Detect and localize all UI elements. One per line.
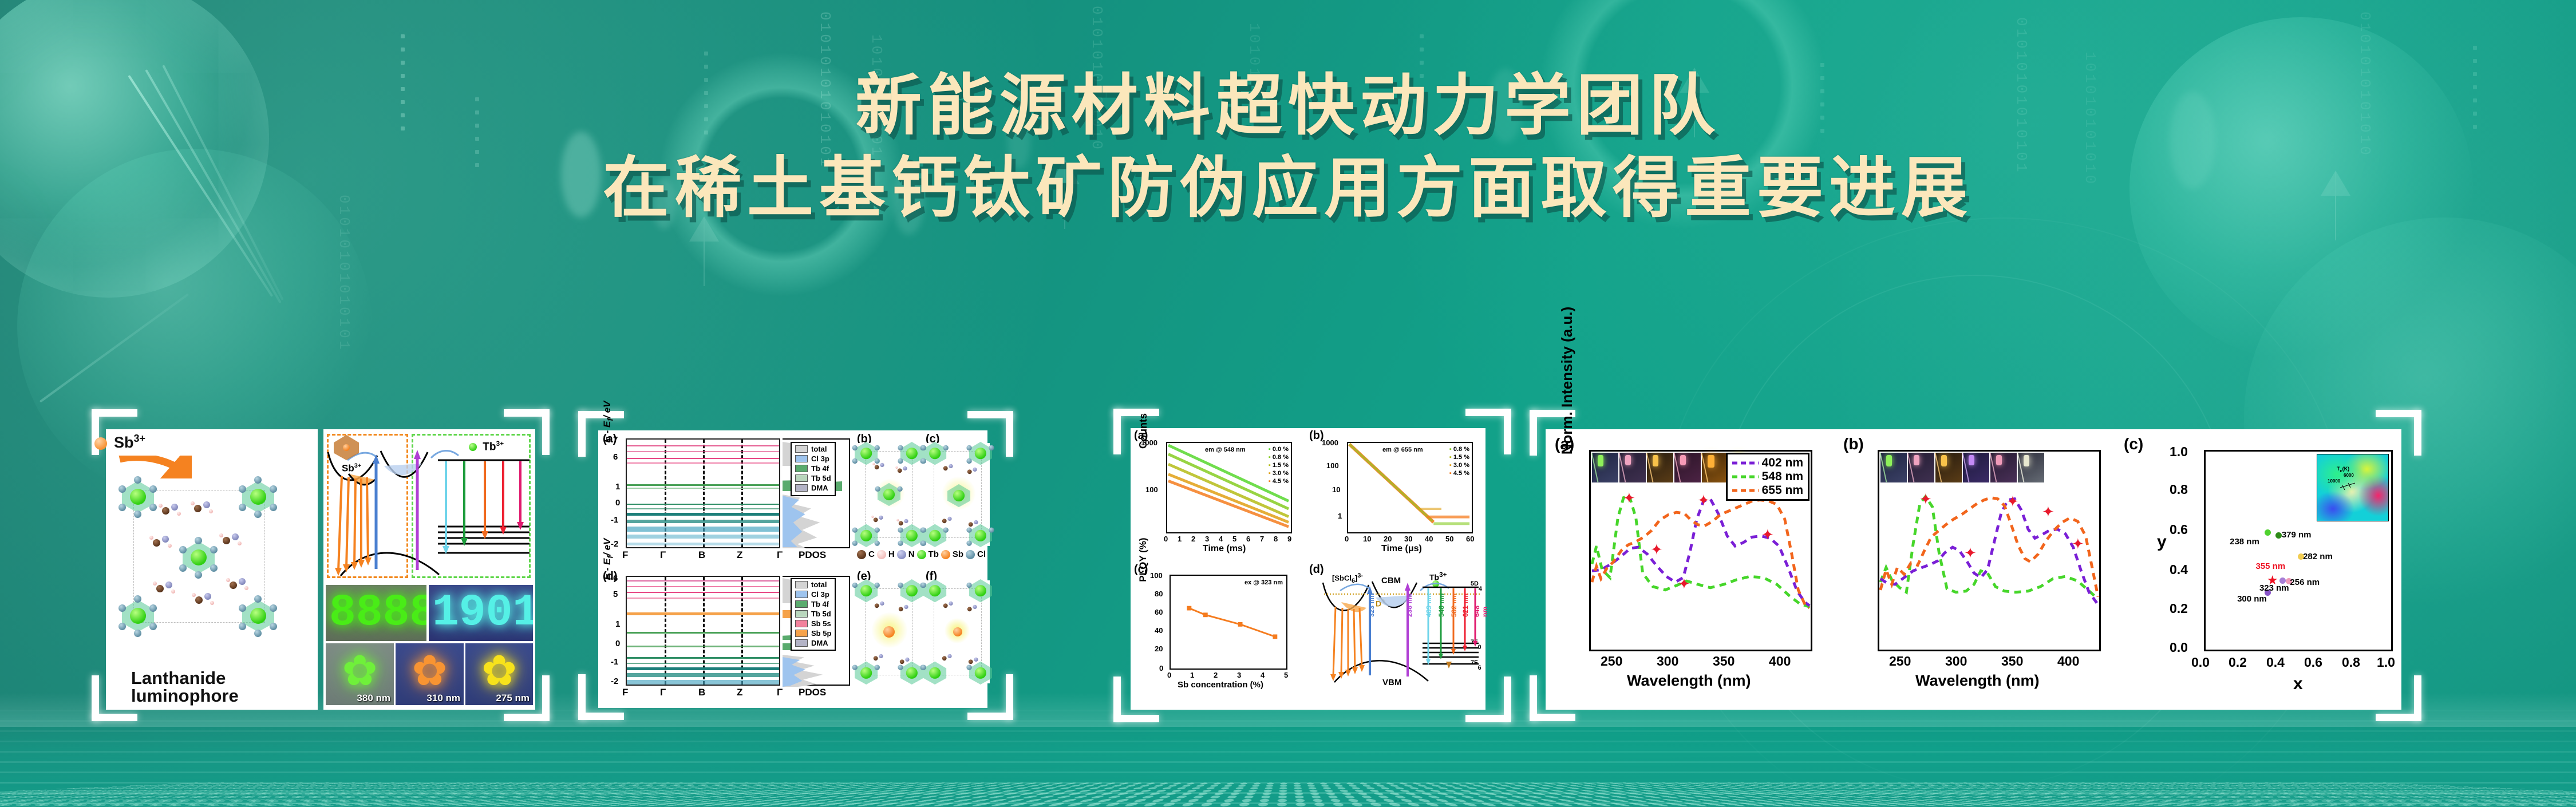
pdos-plot-d: total Cl 3p Tb 4f Tb 5d Sb 5s Sb 5p DMA xyxy=(783,576,850,686)
cie-plot: Tc(K) 6000 10000 ★ 238 nm 379 nm 282 nm … xyxy=(2204,450,2393,651)
cie-point-238 xyxy=(2265,529,2271,536)
tb-label: Tb3+ xyxy=(469,440,504,453)
ytick-4c-02: 0.2 xyxy=(2170,601,2188,616)
crystal-cell-b xyxy=(857,443,921,546)
panel-label-4c: (c) xyxy=(2124,435,2143,453)
xtick-4c-04: 0.4 xyxy=(2266,655,2285,670)
toc-dopant-label: Sb3+ xyxy=(114,433,145,452)
xtick-3b-60: 60 xyxy=(1466,535,1474,543)
cie-point-379 xyxy=(2275,532,2282,539)
annotation-em548: em @ 548 nm xyxy=(1205,446,1246,453)
ytick-3a-100: 100 xyxy=(1145,485,1158,494)
xtick-3a-2: 2 xyxy=(1191,535,1195,543)
xtick-3c-3: 3 xyxy=(1237,671,1241,679)
xtick-3b-0: 0 xyxy=(1345,535,1349,543)
curved-arrow-icon xyxy=(117,456,192,478)
xtick-4a-400: 400 xyxy=(1769,654,1791,669)
crystal-unit-cell xyxy=(121,480,275,633)
ytick-3c-20: 20 xyxy=(1155,644,1163,653)
transition-489: 489 nm xyxy=(1425,594,1433,617)
excitation-plot-a: ✦ ✦ ✦ ✦ ✦ 402 nm 548 nm 655 nm xyxy=(1589,450,1812,651)
xtick-4c-08: 0.8 xyxy=(2342,655,2360,670)
cie-label-355: 355 nm xyxy=(2255,561,2285,571)
perspective-floor xyxy=(0,710,2576,807)
pdos-label-d: PDOS xyxy=(799,687,826,698)
banner-title: 新能源材料超快动力学团队 在稀土基钙钛矿防伪应用方面取得重要进展 xyxy=(0,69,2576,226)
energy-transfer-scheme: Sb3+ Tb3+ xyxy=(326,432,533,581)
xtick-4b-300: 300 xyxy=(1945,654,1967,669)
transition-582: 582 nm xyxy=(1450,594,1458,617)
xtick-3c-1: 1 xyxy=(1190,671,1194,679)
xtick-3c-2: 2 xyxy=(1214,671,1218,679)
xtick-3a-4: 4 xyxy=(1219,535,1223,543)
figure-decay-plqy-levels[interactable]: (a) Counts em @ 548 nm ▪ 0.0 % ▪ 0.8 % ▪… xyxy=(1131,428,1485,710)
ytick-a-0: 7 xyxy=(613,435,618,445)
ytick-3b-1000: 1000 xyxy=(1322,438,1338,447)
axis-label-cie-x: x xyxy=(2293,674,2303,694)
xtick-4c-00: 0.0 xyxy=(2191,655,2210,670)
sb-octahedron-icon xyxy=(334,435,359,460)
atom-icon-h xyxy=(877,550,886,559)
ytick-4c-00: 0.0 xyxy=(2170,640,2188,655)
ytick-3b-1: 1 xyxy=(1338,512,1342,520)
axis-label-wavelength-a: Wavelength (nm) xyxy=(1627,672,1751,690)
transition-323: 323 nm xyxy=(1368,594,1376,617)
pdos-plot-a: total Cl 3p Tb 4f Tb 5d DMA xyxy=(783,438,850,548)
star-marker-b2: ✦ xyxy=(2006,494,2019,509)
energy-diagram-3d xyxy=(1319,572,1485,687)
title-line-1: 新能源材料超快动力学团队 xyxy=(0,69,2576,143)
xtick-4a-300: 300 xyxy=(1657,654,1678,669)
ytick-d-2: 1 xyxy=(615,619,620,629)
panel-label-4b: (b) xyxy=(1843,435,1864,453)
axis-label-cie-y: y xyxy=(2157,532,2167,552)
banner-stage: 01010101010101 10101010101 0101010101010… xyxy=(0,0,2576,807)
xtick-3b-20: 20 xyxy=(1384,535,1392,543)
ktick-a-1: Γ xyxy=(660,549,666,561)
ytick-3a-1000: 1000 xyxy=(1141,438,1157,447)
ktick-d-0: F xyxy=(622,687,628,698)
xtick-3c-5: 5 xyxy=(1284,671,1288,679)
crystal-cell-c xyxy=(926,443,990,546)
axis-label-wavelength-b: Wavelength (nm) xyxy=(1915,672,2040,690)
figure-excitation-cie[interactable]: (a) Norm. Intensity (a.u.) ✦ ✦ ✦ ✦ ✦ xyxy=(1546,429,2401,710)
axis-label-time-ms: Time (ms) xyxy=(1203,544,1246,554)
ytick-3b-100: 100 xyxy=(1326,461,1339,470)
ytick-d-5: -2 xyxy=(611,677,618,686)
band-plot-d xyxy=(626,576,780,686)
star-marker-a1: ✦ xyxy=(1623,490,1635,505)
axis-label-time-us: Time (μs) xyxy=(1381,544,1422,554)
xtick-4b-400: 400 xyxy=(2057,654,2079,669)
plqy-series xyxy=(1171,576,1286,668)
figure-toc-structure[interactable]: Sb3+ xyxy=(106,429,318,710)
luminescence-photos[interactable]: 8888 1901 ✿ 380 nm ✿ 310 nm ✿ 275 nm xyxy=(326,585,533,707)
atom-icon-n xyxy=(897,550,906,559)
xtick-4c-10: 1.0 xyxy=(2377,655,2395,670)
ytick-3c-80: 80 xyxy=(1155,590,1163,598)
star-marker-b5: ✦ xyxy=(2072,536,2084,551)
ytick-d-1: 5 xyxy=(613,590,618,599)
star-marker-a3: ✦ xyxy=(1650,542,1663,557)
xtick-4c-06: 0.6 xyxy=(2304,655,2322,670)
atom-icon-tb xyxy=(917,550,926,559)
legend-4a: 402 nm 548 nm 655 nm xyxy=(1726,453,1809,501)
axis-label-norm-intensity: Norm. Intensity (a.u.) xyxy=(1558,286,1576,475)
excitation-curves-b xyxy=(1879,452,2099,650)
xtick-3b-50: 50 xyxy=(1445,535,1453,543)
excitation-plot-b: ✦ ✦ ✦ ✦ ✦ xyxy=(1878,450,2101,651)
xtick-3a-0: 0 xyxy=(1164,535,1168,543)
axis-label-counts: Counts xyxy=(1137,399,1149,462)
annotation-em655: em @ 655 nm xyxy=(1382,446,1423,453)
ktick-d-4: Γ xyxy=(777,687,783,698)
star-marker-a2: ✦ xyxy=(1697,493,1710,508)
ytick-3c-0: 0 xyxy=(1159,664,1163,672)
cie-diagram-inset: Tc(K) 6000 10000 xyxy=(2317,454,2389,521)
ytick-a-3: 0 xyxy=(615,498,620,508)
cie-label-256: 256 nm xyxy=(2290,577,2320,587)
xtick-4c-02: 0.2 xyxy=(2229,655,2247,670)
atom-icon-sb xyxy=(941,550,950,559)
xtick-3a-1: 1 xyxy=(1178,535,1182,543)
xtick-3a-9: 9 xyxy=(1287,535,1291,543)
cie-label-282: 282 nm xyxy=(2303,552,2333,561)
legend-decay-a: ▪ 0.0 % ▪ 0.8 % ▪ 1.5 % ▪ 3.0 % ▪ 4.5 % xyxy=(1269,445,1289,485)
transition-548: 548 nm xyxy=(1437,594,1445,617)
ktick-a-4: Γ xyxy=(777,549,783,561)
axis-label-sbconc: Sb concentration (%) xyxy=(1178,680,1263,690)
ytick-4c-04: 0.4 xyxy=(2170,562,2188,577)
xtick-4b-350: 350 xyxy=(2001,654,2023,669)
plqy-plot: ex @ 323 nm xyxy=(1170,575,1287,670)
tb-sphere-icon xyxy=(469,443,477,451)
cie-point-355-star: ★ xyxy=(2267,577,2278,583)
xtick-3b-30: 30 xyxy=(1404,535,1412,543)
xtick-3c-4: 4 xyxy=(1261,671,1265,679)
ytick-d-3: 0 xyxy=(615,639,620,648)
decay-plot-b: em @ 655 nm ▪ 0.8 % ▪ 1.5 % ▪ 3.0 % ▪ 4.… xyxy=(1347,442,1473,533)
cie-label-300: 300 nm xyxy=(2237,594,2267,604)
ktick-d-2: B xyxy=(698,687,705,698)
crystal-cell-f xyxy=(926,580,990,683)
cie-label-379: 379 nm xyxy=(2282,530,2312,540)
ytick-3c-100: 100 xyxy=(1150,571,1163,580)
binary-column-4: 01010101010101 xyxy=(338,195,353,435)
xtick-3b-10: 10 xyxy=(1363,535,1371,543)
photo-seven-segment-green: 8888 xyxy=(326,585,426,641)
xtick-3a-8: 8 xyxy=(1274,535,1278,543)
ktick-d-1: Γ xyxy=(660,687,666,698)
atom-icon-c xyxy=(857,550,866,559)
toc-caption: Lanthanide luminophore xyxy=(131,669,239,705)
star-marker-b4: ✦ xyxy=(1964,545,1977,560)
xtick-4a-350: 350 xyxy=(1713,654,1735,669)
ytick-a-2: 1 xyxy=(615,482,620,492)
ytick-4c-06: 0.6 xyxy=(2170,522,2188,537)
xtick-3b-40: 40 xyxy=(1425,535,1433,543)
legend-d: total Cl 3p Tb 4f Tb 5d Sb 5s Sb 5p DMA xyxy=(791,578,836,651)
ytick-d-0: 6 xyxy=(613,573,618,583)
cie-label-238: 238 nm xyxy=(2230,537,2259,547)
ytick-4c-08: 0.8 xyxy=(2170,482,2188,497)
xtick-3c-0: 0 xyxy=(1167,671,1171,679)
star-marker-a5: ✦ xyxy=(1761,527,1774,542)
figure-band-structure-dos[interactable]: (a) E - Ef/ eV xyxy=(598,430,987,708)
legend-a: total Cl 3p Tb 4f Tb 5d DMA xyxy=(791,442,836,496)
ktick-a-2: B xyxy=(698,549,705,561)
transition-621: 621 nm xyxy=(1461,594,1469,617)
ytick-a-1: 6 xyxy=(613,452,618,462)
star-marker-a4: ✦ xyxy=(1678,576,1690,591)
atom-color-legend: C H N Tb Sb Cl xyxy=(857,549,986,559)
photo-rose-310: ✿ 310 nm xyxy=(396,643,464,705)
sb-sphere-icon xyxy=(94,437,107,450)
star-marker-b1: ✦ xyxy=(1919,492,1932,507)
title-line-2: 在稀土基钙钛矿防伪应用方面取得重要进展 xyxy=(0,151,2576,226)
ytick-3c-40: 40 xyxy=(1155,626,1163,635)
xtick-4a-250: 250 xyxy=(1601,654,1622,669)
ktick-a-3: Z xyxy=(737,549,742,561)
cie-label-323: 323 nm xyxy=(2259,583,2289,593)
figure-toc-levels-photos[interactable]: Sb3+ Tb3+ 8888 1901 ✿ 380 nm ✿ 310 nm xyxy=(323,429,535,710)
transition-648: 648 nm xyxy=(1473,604,1489,617)
perspective-floor-dots xyxy=(0,782,2576,807)
axis-label-plqy: PLQY (%) xyxy=(1137,520,1149,600)
photo-seven-segment-blue: 1901 xyxy=(429,585,533,641)
xtick-3a-5: 5 xyxy=(1232,535,1236,543)
sb-label: Sb3+ xyxy=(342,462,361,474)
pdos-label-a: PDOS xyxy=(799,549,826,561)
xtick-4b-250: 250 xyxy=(1889,654,1911,669)
ytick-d-4: -1 xyxy=(611,657,618,667)
legend-decay-b: ▪ 0.8 % ▪ 1.5 % ▪ 3.0 % ▪ 4.5 % xyxy=(1449,445,1469,477)
decay-plot-a: em @ 548 nm ▪ 0.0 % ▪ 0.8 % ▪ 1.5 % ▪ 3.… xyxy=(1166,442,1292,533)
atom-icon-cl xyxy=(966,550,975,559)
bond-line-4 xyxy=(39,293,189,402)
ktick-a-0: F xyxy=(622,549,628,561)
crystal-cell-e xyxy=(857,580,921,683)
xtick-3a-7: 7 xyxy=(1260,535,1264,543)
photo-rose-380: ✿ 380 nm xyxy=(326,643,394,705)
ytick-4c-10: 1.0 xyxy=(2170,444,2188,460)
star-marker-b3: ✦ xyxy=(2042,504,2055,519)
xtick-3a-6: 6 xyxy=(1246,535,1250,543)
ytick-3b-10: 10 xyxy=(1332,485,1340,494)
annotation-ex323: ex @ 323 nm xyxy=(1244,579,1283,586)
photo-rose-275: ✿ 275 nm xyxy=(465,643,533,705)
band-plot-a xyxy=(626,438,780,548)
ytick-3c-60: 60 xyxy=(1155,608,1163,616)
xtick-3a-3: 3 xyxy=(1205,535,1209,543)
ktick-d-3: Z xyxy=(737,687,742,698)
transition-238: 238 nm xyxy=(1405,594,1413,617)
